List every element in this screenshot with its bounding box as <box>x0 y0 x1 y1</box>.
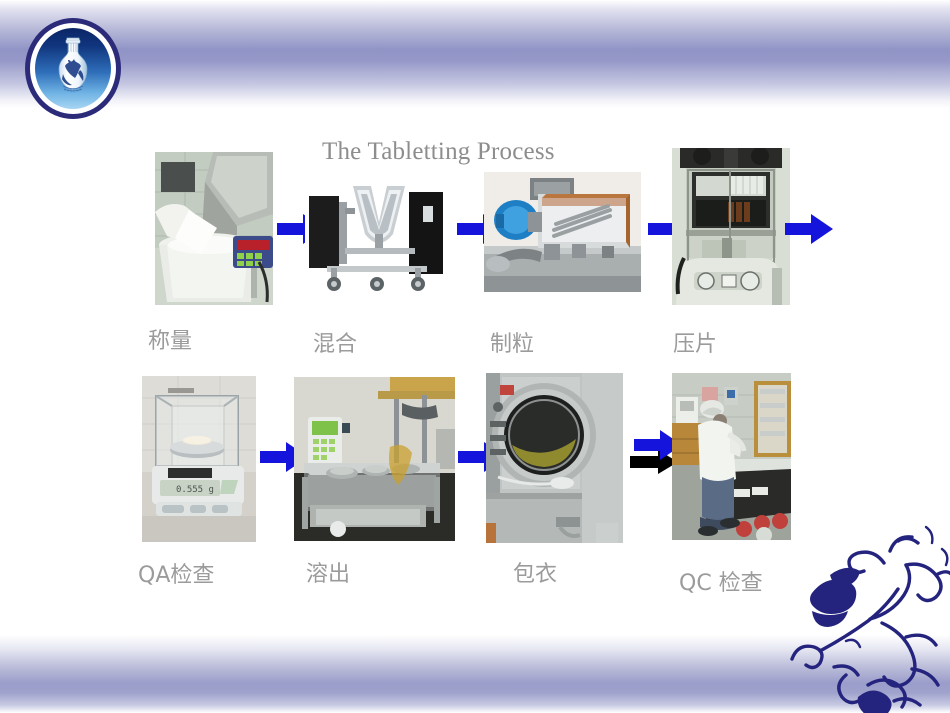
vase-icon <box>52 36 94 102</box>
step-image-coating <box>486 373 623 543</box>
arrow-tabletting-wrap <box>785 212 833 246</box>
step-caption-granulation: 制粒 <box>490 326 534 358</box>
porcelain-vase-logo <box>25 18 121 119</box>
page-title: The Tabletting Process <box>322 138 555 166</box>
step-image-weighing <box>155 152 273 305</box>
step-caption-dissolution: 溶出 <box>306 556 350 588</box>
step-image-qc-check <box>672 373 791 540</box>
step-image-tabletting <box>672 148 790 305</box>
step-caption-mixing: 混合 <box>313 326 357 358</box>
step-caption-weighing: 称量 <box>148 323 192 355</box>
step-caption-coating: 包衣 <box>513 556 557 588</box>
top-gradient-band <box>0 0 950 108</box>
step-image-mixing <box>305 172 450 296</box>
bottom-gradient-band <box>0 635 950 713</box>
svg-text:0.555 g: 0.555 g <box>176 485 214 495</box>
step-image-dissolution <box>294 377 455 541</box>
slide-canvas: The Tabletting Process <box>0 0 950 713</box>
step-image-qa-check: 0.555 g <box>142 376 256 542</box>
step-caption-qc-check: QC 检查 <box>679 565 763 597</box>
step-caption-tabletting: 压片 <box>673 326 717 358</box>
logo-gradient-disc <box>35 28 111 109</box>
step-image-granulation <box>484 172 641 292</box>
step-caption-qa-check: QA检查 <box>138 557 214 589</box>
